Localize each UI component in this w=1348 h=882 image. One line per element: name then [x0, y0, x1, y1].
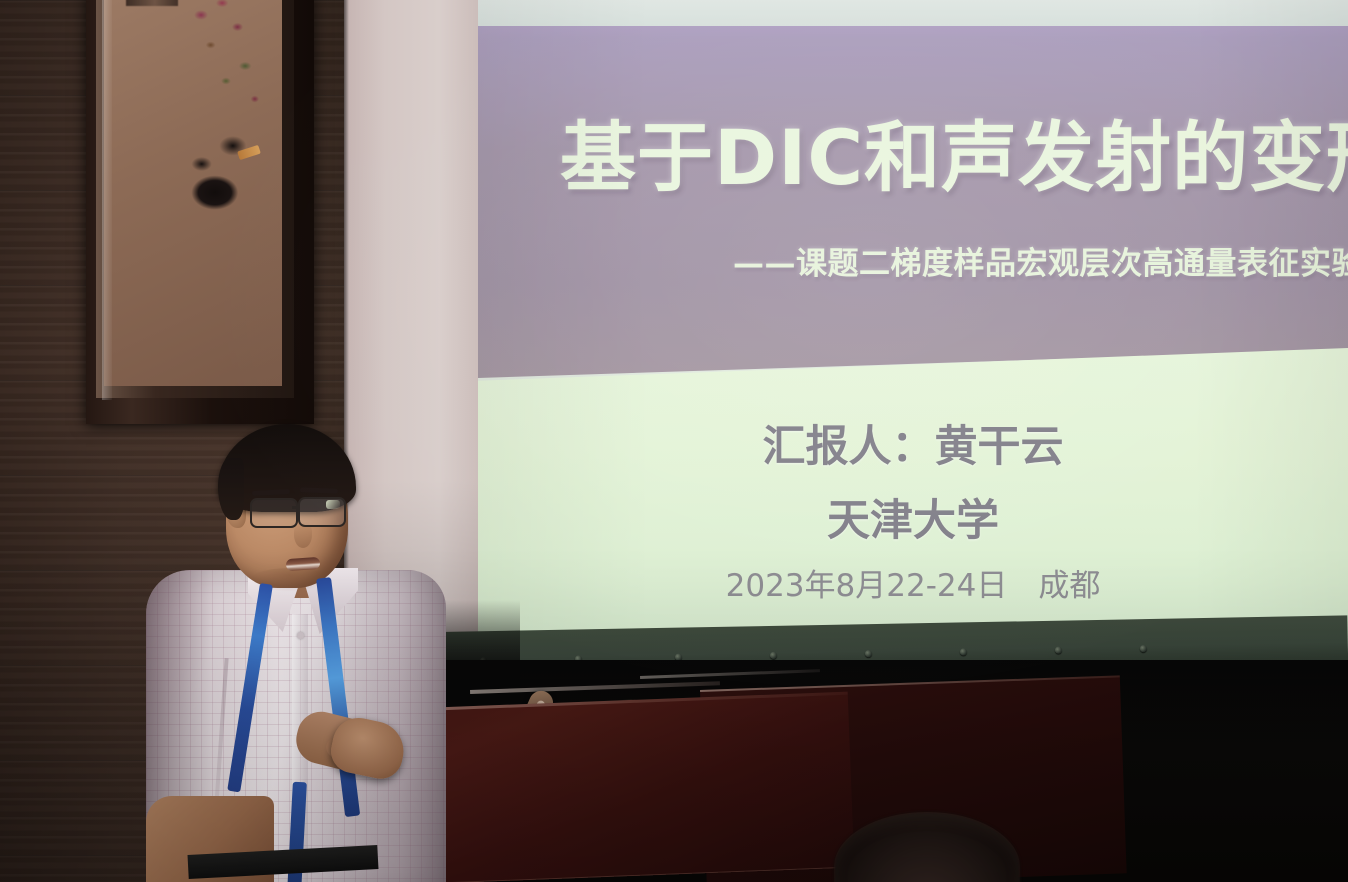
slide-title: 基于DIC和声发射的变形损 [560, 96, 1348, 206]
painting-bird [182, 112, 264, 242]
presenter-hair-sideburn [218, 458, 244, 520]
projection-screen: 基于DIC和声发射的变形损 ——课题二梯度样品宏观层次高通量表征实验方 汇报人：… [478, 0, 1348, 660]
screen-grommet [1055, 647, 1062, 654]
screen-grommet [960, 648, 967, 655]
presenter-glasses-left-lens [250, 498, 298, 528]
slide-top-edge-strip [478, 0, 1348, 26]
presenter-glasses-bridge [292, 506, 300, 509]
painting-glass-reflection [102, 0, 112, 400]
framed-painting [86, 0, 314, 424]
presenter [140, 418, 470, 882]
painting-canvas [104, 0, 282, 386]
presenter-shirt-button [297, 632, 304, 639]
presenter-nose [294, 522, 312, 548]
screen-grommet [770, 652, 777, 659]
slide-date-location: 2023年8月22-24日 成都 [478, 560, 1348, 605]
presenter-glasses-glint [326, 500, 340, 509]
presentation-photo-scene: 基于DIC和声发射的变形损 ——课题二梯度样品宏观层次高通量表征实验方 汇报人：… [0, 0, 1348, 882]
screen-grommet [1140, 645, 1147, 652]
slide-presenter-name: 汇报人：黄干云 [478, 412, 1348, 474]
slide-subtitle: ——课题二梯度样品宏观层次高通量表征实验方 [733, 238, 1348, 283]
painting-seal-mark [126, 0, 178, 6]
screen-grommet [865, 650, 872, 657]
slide-organization: 天津大学 [478, 486, 1348, 548]
painting-frame-bevel [96, 0, 294, 398]
